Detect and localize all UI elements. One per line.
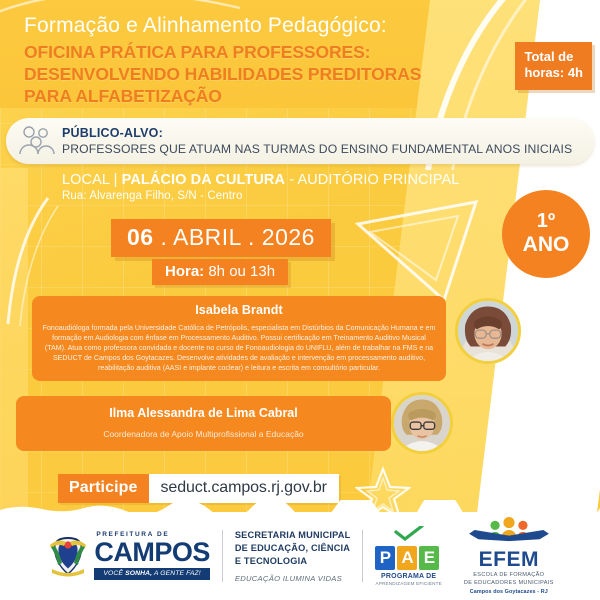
efem-logo: EFEM ESCOLA DE FORMAÇÃO DE EDUCADORES MU… [454, 517, 564, 594]
triangle-outline-icon [352, 196, 482, 306]
header-title-line-2: DESENVOLVENDO HABILIDADES PREDITORAS [24, 63, 494, 85]
check-icon [392, 526, 426, 541]
secretaria-line-2: DE EDUCAÇÃO, CIÊNCIA [235, 542, 351, 555]
speaker-1-bio: Fonoaudióloga formada pela Universidade … [42, 323, 436, 373]
header-title-line-3: PARA ALFABETIZAÇÃO [24, 85, 494, 107]
secretaria-logo: SECRETARIA MUNICIPAL DE EDUCAÇÃO, CIÊNCI… [223, 529, 363, 582]
secretaria-lines: SECRETARIA MUNICIPAL DE EDUCAÇÃO, CIÊNCI… [235, 529, 351, 567]
participate-label: Participe [58, 474, 149, 503]
header-block: Formação e Alinhamento Pedagógico: OFICI… [24, 14, 494, 107]
year-badge: 1º ANO [502, 190, 590, 278]
pae-subtitle-1: PROGRAMA DE [375, 573, 441, 580]
campos-slogan-a: VOCÊ [103, 570, 125, 577]
campos-wordmark: PREFEITURA DE CAMPOS VOCÊ SONHA, A GENTE… [94, 532, 210, 580]
secretaria-line-1: SECRETARIA MUNICIPAL [235, 529, 351, 542]
poster-canvas: Formação e Alinhamento Pedagógico: OFICI… [0, 0, 600, 600]
venue-name: PALÁCIO DA CULTURA [122, 172, 285, 188]
header-title-line-1: OFICINA PRÁTICA PARA PROFESSORES: [24, 41, 494, 63]
campos-slogan-b: SONHA, [125, 570, 152, 577]
efem-location: Campos dos Goytacazes - RJ [464, 589, 554, 595]
speaker-1-name: Isabela Brandt [42, 303, 436, 317]
venue-line: LOCAL | PALÁCIO DA CULTURA - AUDITÓRIO P… [62, 172, 492, 188]
total-hours-line-1: Total de [524, 49, 583, 65]
header-title: OFICINA PRÁTICA PARA PROFESSORES: DESENV… [24, 41, 494, 107]
venue-block: LOCAL | PALÁCIO DA CULTURA - AUDITÓRIO P… [62, 172, 492, 202]
speaker-2-avatar [391, 392, 453, 454]
total-hours-badge: Total de horas: 4h [515, 42, 592, 90]
speaker-photo-isabela [458, 301, 518, 361]
participate-url[interactable]: seduct.campos.rj.gov.br [149, 474, 339, 503]
event-time-value: 8h ou 13h [204, 263, 275, 280]
participate-bar[interactable]: Participe seduct.campos.rj.gov.br [58, 474, 339, 503]
speaker-photo-ilma [394, 395, 450, 451]
pae-letter-p: P [375, 546, 395, 570]
coat-of-arms-icon [48, 533, 88, 579]
secretaria-slogan: EDUCAÇÃO ILUMINA VIDAS [235, 574, 351, 583]
pae-subtitle-2: APRENDIZAGEM EFICIENTE [375, 581, 441, 586]
event-day: 06 [127, 224, 154, 250]
campos-name: CAMPOS [94, 539, 210, 566]
footer-logos: PREFEITURA DE CAMPOS VOCÊ SONHA, A GENTE… [0, 512, 600, 600]
pae-letter-a: A [397, 546, 417, 570]
target-audience-label: PÚBLICO-ALVO: [62, 126, 572, 140]
efem-subtitle: ESCOLA DE FORMAÇÃO DE EDUCADORES MUNICIP… [464, 572, 554, 587]
pae-letter-e: E [419, 546, 439, 570]
target-audience-text: PÚBLICO-ALVO: PROFESSORES QUE ATUAM NAS … [62, 126, 572, 156]
speaker-2-name: Ilma Alessandra de Lima Cabral [26, 406, 381, 420]
people-group-icon [16, 124, 58, 158]
speaker-card-1: Isabela Brandt Fonoaudióloga formada pel… [32, 296, 446, 381]
venue-suffix: - AUDITÓRIO PRINCIPAL [285, 172, 459, 188]
campos-logo: PREFEITURA DE CAMPOS VOCÊ SONHA, A GENTE… [36, 532, 222, 580]
event-time-badge: Hora: 8h ou 13h [152, 259, 288, 285]
total-hours-line-2: horas: 4h [524, 65, 583, 81]
year-badge-number: 1º [537, 211, 555, 232]
efem-subtitle-1: ESCOLA DE FORMAÇÃO [464, 572, 554, 580]
pae-logo: P A E PROGRAMA DE APRENDIZAGEM EFICIENTE [363, 526, 453, 586]
event-month-year: . ABRIL . 2026 [154, 224, 315, 250]
background-left-strip [0, 168, 28, 512]
speaker-card-2: Ilma Alessandra de Lima Cabral Coordenad… [16, 396, 391, 451]
campos-slogan-c: A GENTE FAZ! [152, 570, 201, 577]
speaker-2-role: Coordenadora de Apoio Multiprofissional … [26, 429, 381, 439]
venue-address: Rua: Alvarenga Filho, S/N - Centro [62, 190, 492, 202]
efem-book-people-icon [466, 517, 552, 543]
target-audience-value: PROFESSORES QUE ATUAM NAS TURMAS DO ENSI… [62, 142, 572, 156]
efem-name: EFEM [464, 549, 554, 570]
year-badge-label: ANO [523, 234, 570, 256]
event-date-badge: 06 . ABRIL . 2026 [111, 219, 331, 257]
event-time-label: Hora: [165, 263, 204, 280]
campos-slogan: VOCÊ SONHA, A GENTE FAZ! [94, 568, 210, 580]
secretaria-line-3: E TECNOLOGIA [235, 555, 351, 568]
speaker-1-avatar [455, 298, 521, 364]
target-audience-pill: PÚBLICO-ALVO: PROFESSORES QUE ATUAM NAS … [6, 118, 594, 164]
efem-subtitle-2: DE EDUCADORES MUNICIPAIS [464, 580, 554, 588]
header-subtitle: Formação e Alinhamento Pedagógico: [24, 14, 494, 37]
venue-prefix: LOCAL | [62, 172, 122, 188]
pae-letters: P A E [375, 546, 441, 570]
